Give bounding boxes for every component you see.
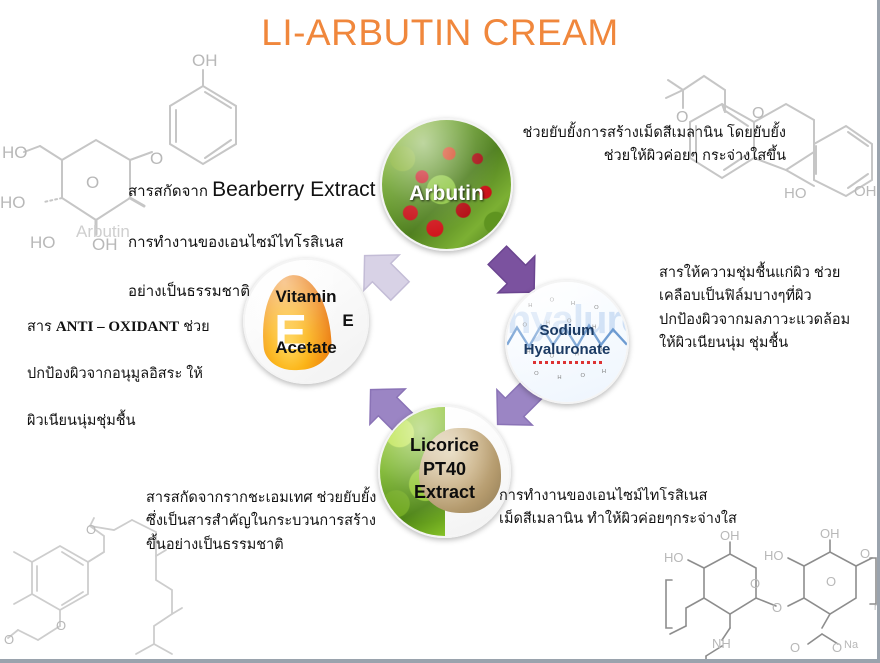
caption-antioxidant-english: ANTI – OXIDANT [56,319,179,335]
caption-bearberry-line1: สารสกัดจาก Bearberry Extract [128,148,413,206]
svg-text:OH: OH [854,183,877,200]
circle-arbutin-label: Arbutin [382,182,511,206]
caption-antioxidant-line3: ผิวเนียนนุ่มชุ่มชื้น [27,410,267,433]
svg-text:O: O [826,574,836,589]
svg-text:HO: HO [664,550,684,565]
caption-antioxidant-line1: สาร ANTI – OXIDANT ช่วย [27,291,267,339]
circle-licorice-label-2: PT40 [380,459,509,479]
circle-vitamin-e-label-2: E [245,311,369,330]
svg-text:HO: HO [2,143,28,162]
svg-text:O: O [86,522,96,537]
caption-bearberry-thai-prefix: สารสกัดจาก [128,183,212,200]
caption-bearberry-english: Bearberry Extract [212,178,375,201]
svg-text:O: O [790,640,800,655]
svg-text:O: O [56,618,66,633]
arbutin-structure-caption: Arbutin [76,222,130,242]
svg-text:O: O [534,371,539,377]
svg-text:Na: Na [844,639,859,651]
slide-canvas: HO HO HO OH O O OH Arbutin Arbutin [0,0,880,663]
caption-antioxidant: สาร ANTI – OXIDANT ช่วย ปกป้องผิวจากอนุม… [27,268,267,457]
svg-text:O: O [4,632,14,647]
hyaluronate-structure: OH HO O O NH O OH HO O O O O Na n [646,518,878,660]
svg-text:O: O [860,546,870,561]
caption-sodium-right: สารให้ความชุ่มชื้นแก่ผิว ช่วย เคลือบเป็น… [659,262,877,356]
svg-text:H: H [528,303,532,309]
svg-text:OH: OH [92,235,118,253]
circle-vitamin-e-label-3: Acetate [245,338,367,357]
circle-sodium-hyaluronate[interactable]: hyaluronate HOHO OHOH HOHO OHOH Sodium H… [505,280,629,404]
svg-text:O: O [772,600,782,615]
sodium-underline-squiggle [533,361,603,364]
circle-sodium-label-2: Hyaluronate [507,342,627,359]
svg-text:O: O [550,297,555,303]
svg-text:HO: HO [764,548,784,563]
svg-text:OH: OH [820,526,840,541]
circle-licorice-label-1: Licorice [380,435,509,455]
svg-text:NH: NH [712,636,731,651]
svg-text:HO: HO [784,185,807,202]
svg-text:O: O [594,305,599,311]
svg-text:HO: HO [30,233,56,252]
circle-vitamin-e-label-1: Vitamin [245,287,367,306]
caption-licorice-right: การทำงานของเอนไซม์ไทโรสิเนส เม็ดสีเมลานิ… [499,485,764,532]
circle-sodium-label-1: Sodium [507,323,627,340]
svg-text:O: O [832,640,842,655]
caption-bearberry-line2: การทำงานของเอนไซม์ไทโรสิเนส [128,231,413,255]
page-title: LI-ARBUTIN CREAM [0,12,880,54]
svg-text:O: O [86,173,99,192]
circle-licorice-label-3: Extract [380,482,509,502]
svg-text:O: O [581,373,586,379]
svg-text:H: H [557,375,561,381]
svg-text:O: O [752,105,764,122]
caption-licorice-left: สารสกัดจากรากชะเอมเทศ ช่วยยับยั้ง ซึ่งเป… [146,487,416,557]
caption-arbutin-right: ช่วยยับยั้งการสร้างเม็ดสีเมลานิน โดยยับย… [486,122,786,169]
svg-text:H: H [602,369,606,375]
svg-text:n: n [874,602,878,613]
svg-text:H: H [571,301,575,307]
caption-antioxidant-line2: ปกป้องผิวจากอนุมูลอิสระ ให้ [27,363,267,386]
svg-text:O: O [750,576,760,591]
svg-text:HO: HO [0,193,26,212]
caption-antioxidant-thai-suffix: ช่วย [179,319,210,335]
caption-antioxidant-thai-prefix: สาร [27,319,56,335]
